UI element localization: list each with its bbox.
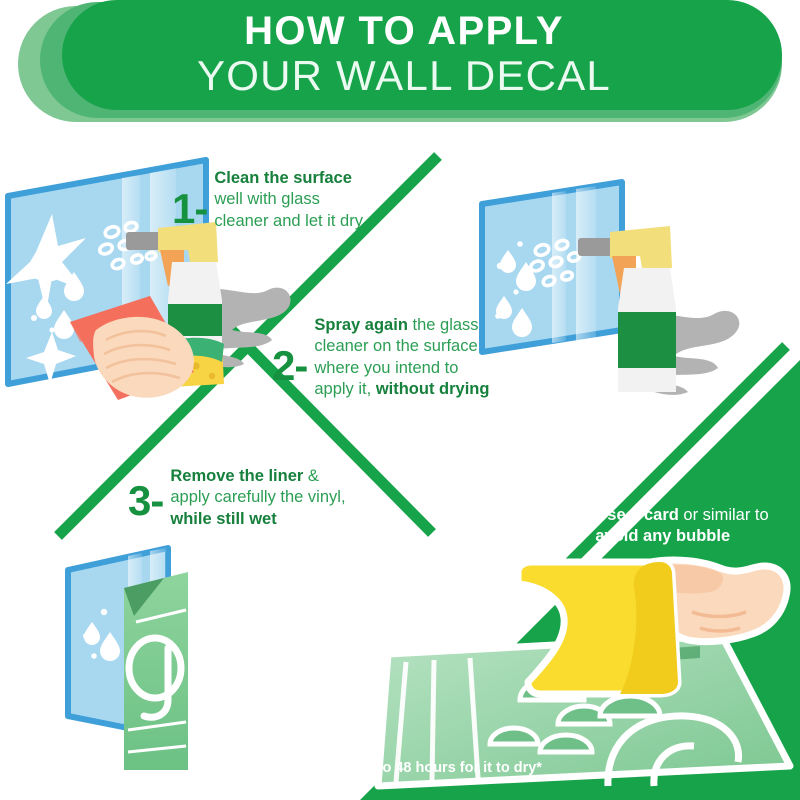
step-3: 3- Remove the liner & apply carefully th…: [128, 466, 368, 530]
step-2-text: Spray again the glass cleaner on the sur…: [314, 315, 498, 401]
step-2-number: 2-: [272, 347, 307, 386]
step-4-text: Use a card or similar to avoid any bubbl…: [595, 505, 783, 548]
step-3-number: 3-: [128, 482, 163, 521]
page-title-line-1: HOW TO APPLY: [244, 11, 564, 51]
step-4: 4- Use a card or similar to avoid any bu…: [552, 505, 794, 548]
footer-note: *You must wait 24 to 48 hours for it to …: [0, 760, 800, 776]
step-1-number: 1-: [172, 190, 207, 229]
step-2: 2- Spray again the glass cleaner on the …: [272, 315, 517, 401]
infographic-canvas: HOW TO APPLY YOUR WALL DECAL 1- Clean th…: [0, 0, 800, 800]
step-1-text: Clean the surface well with glass cleane…: [214, 168, 370, 232]
banner-front: HOW TO APPLY YOUR WALL DECAL: [62, 0, 782, 110]
step-4-number: 4-: [552, 509, 587, 548]
footer-note-text: *You must wait 24 to 48 hours for it to …: [258, 760, 542, 776]
header-banner: HOW TO APPLY YOUR WALL DECAL: [0, 0, 800, 128]
step-1: 1- Clean the surface well with glass cle…: [172, 168, 382, 232]
page-title-line-2: YOUR WALL DECAL: [197, 54, 611, 98]
step-3-text: Remove the liner & apply carefully the v…: [170, 466, 352, 530]
